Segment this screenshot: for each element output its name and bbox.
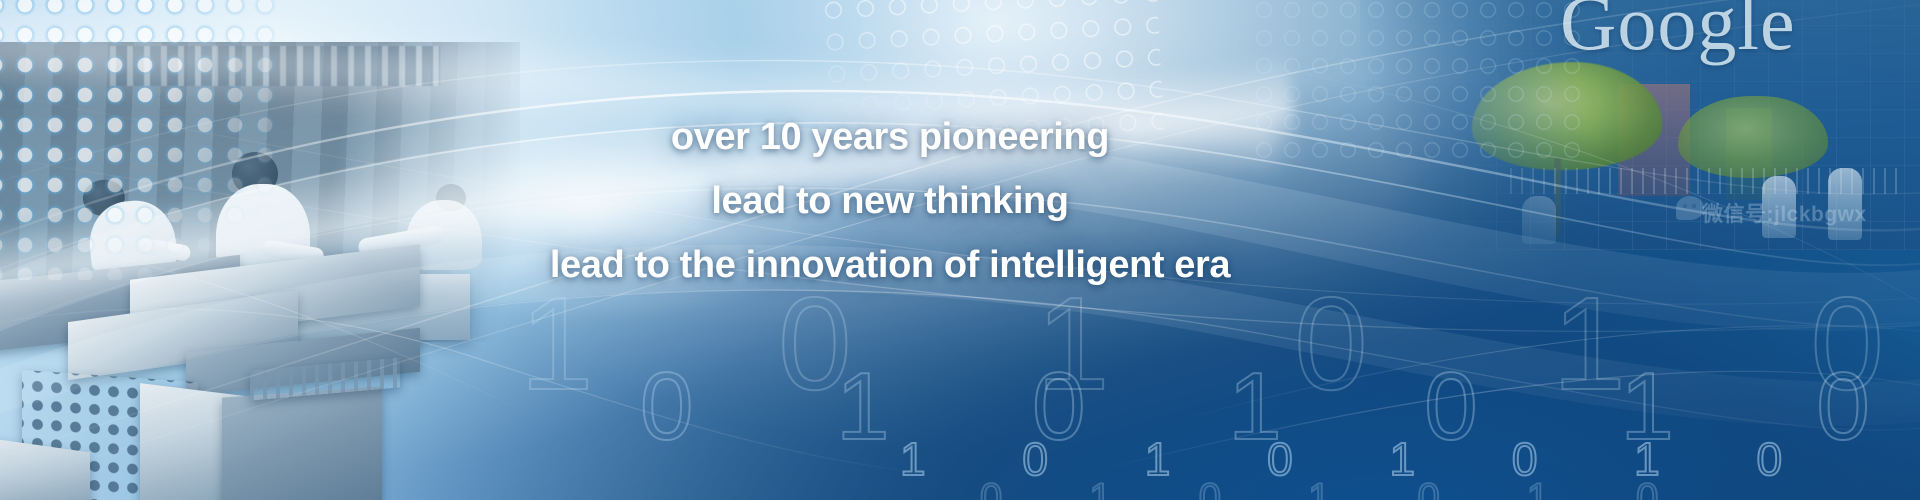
headline-line-3: lead to the innovation of intelligent er… xyxy=(0,246,1780,284)
mold-block-right xyxy=(222,386,382,500)
google-sign-text: Google xyxy=(1560,0,1796,68)
binary-row-4: 0 1 0 1 0 1 0 xyxy=(980,476,1696,500)
hero-headline: over 10 years pioneering lead to new thi… xyxy=(0,118,1920,284)
headline-line-2: lead to new thinking xyxy=(0,182,1780,220)
headline-line-1: over 10 years pioneering xyxy=(0,118,1780,156)
hero-banner: Google xyxy=(0,0,1920,500)
